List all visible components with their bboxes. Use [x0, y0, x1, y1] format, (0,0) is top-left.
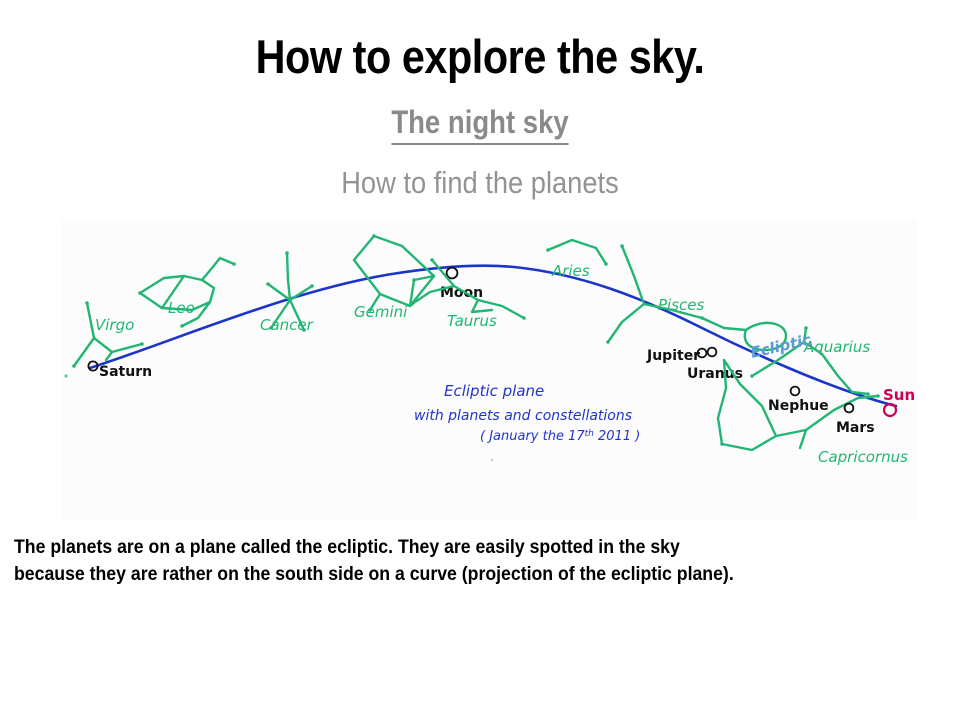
label-mars: Mars [836, 420, 875, 436]
planet-jupiter: Jupiter [646, 348, 706, 364]
stray-mark [64, 374, 67, 377]
label-saturn: Saturn [99, 364, 152, 380]
label-gemini: Gemini [354, 303, 408, 321]
label-capricornus: Capricornus [818, 448, 908, 466]
caption-line-1: The planets are on a plane called the ec… [14, 535, 883, 562]
caption-line-2: because they are rather on the south sid… [14, 562, 883, 589]
label-taurus: Taurus [447, 312, 497, 330]
subtitle-night-sky: The night sky [67, 104, 893, 141]
page-title: How to explore the sky. [58, 32, 903, 81]
subtitle-night-sky-text: The night sky [391, 104, 568, 145]
label-leo: Leo [168, 299, 195, 317]
ecliptic-diagram-svg: .cg { stroke:#22b573; stroke-width:2.4; … [62, 218, 918, 520]
annotation-date-sup: th [585, 429, 595, 439]
label-aquarius: Aquarius [803, 338, 870, 356]
label-aries: Aries [551, 262, 590, 280]
label-neptune: Nephue [768, 398, 829, 414]
annotation-date-start: ( January the 17 [480, 429, 585, 444]
label-virgo: Virgo [95, 316, 134, 334]
ecliptic-diagram-photo: .cg { stroke:#22b573; stroke-width:2.4; … [62, 218, 918, 520]
annotation-line-1: Ecliptic plane [444, 382, 544, 400]
label-jupiter: Jupiter [646, 348, 700, 364]
annotation-date-end: 2011 ) [594, 429, 640, 444]
label-pisces: Pisces [658, 296, 705, 314]
stray-mark-2 [491, 459, 493, 461]
annotation-line-2: with planets and constellations [414, 408, 632, 424]
label-sun: Sun [883, 386, 915, 404]
annotation-line-3: ( January the 17th 2011 ) [480, 429, 640, 444]
label-cancer: Cancer [260, 316, 314, 334]
subtitle-find-planets: How to find the planets [58, 165, 903, 201]
caption-text: The planets are on a plane called the ec… [14, 535, 883, 589]
